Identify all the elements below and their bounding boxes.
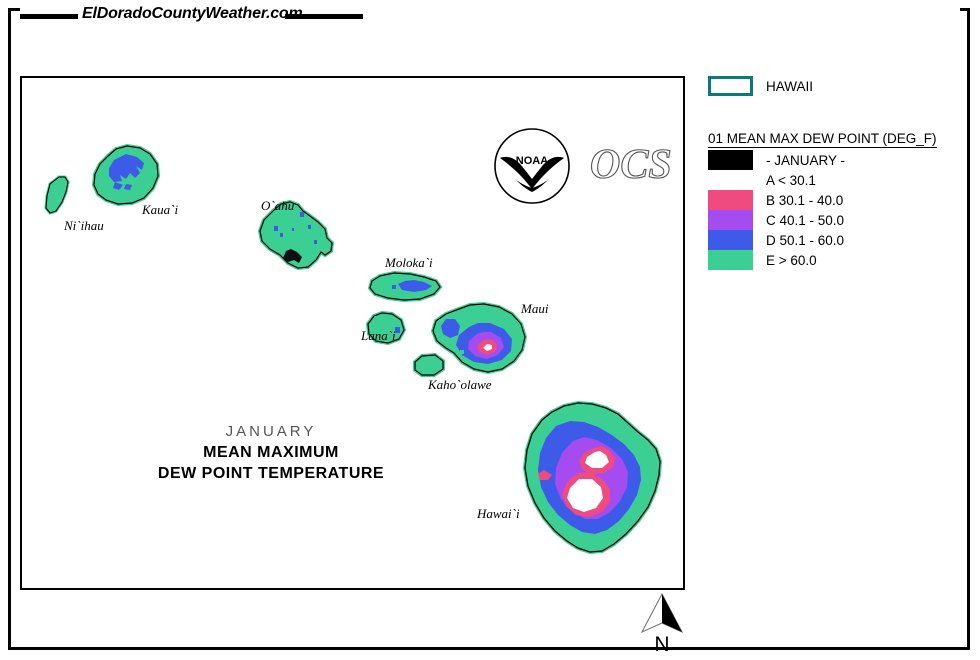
legend-label: B 30.1 - 40.0: [766, 193, 843, 208]
legend-row: E > 60.0: [708, 250, 958, 270]
legend-swatch: [708, 250, 753, 270]
island-niihau: [46, 177, 68, 213]
island-hawaii: [525, 403, 660, 552]
island-kauai: [94, 146, 158, 204]
map-title-block: JANUARY MEAN MAXIMUM DEW POINT TEMPERATU…: [126, 423, 416, 483]
legend-label: D 50.1 - 60.0: [766, 233, 844, 248]
legend-row: D 50.1 - 60.0: [708, 230, 958, 250]
island-molokai: [370, 273, 440, 300]
map-title-line2: DEW POINT TEMPERATURE: [126, 465, 416, 483]
island-label-kauai: Kaua`i: [142, 202, 178, 218]
legend-rows: - JANUARY -A < 30.1B 30.1 - 40.0C 40.1 -…: [708, 150, 958, 270]
legend-region-row: HAWAII: [708, 76, 958, 96]
island-maui: [433, 304, 525, 372]
north-arrow: N: [632, 592, 692, 657]
legend-label: A < 30.1: [766, 173, 816, 188]
legend: HAWAII 01 MEAN MAX DEW POINT (DEG_F) - J…: [708, 76, 958, 270]
noaa-logo-text: NOAA: [516, 155, 548, 167]
hawaii-region-swatch: [708, 76, 753, 96]
hawaii-region-label: HAWAII: [766, 79, 813, 94]
legend-row: A < 30.1: [708, 170, 958, 190]
legend-swatch: [708, 210, 753, 230]
legend-row: C 40.1 - 50.0: [708, 210, 958, 230]
ocs-logo: OCS: [588, 138, 685, 190]
island-label-oahu: O`ahu: [261, 198, 294, 214]
island-label-maui: Maui: [521, 301, 548, 317]
legend-row: - JANUARY -: [708, 150, 958, 170]
hawaii-islands-map: [22, 78, 683, 588]
noaa-logo: NOAA: [493, 127, 571, 205]
island-label-kahoolawe: Kaho`olawe: [428, 377, 492, 393]
legend-swatch: [708, 150, 753, 170]
island-label-lanai: Lana`i: [361, 328, 396, 344]
legend-label: C 40.1 - 50.0: [766, 213, 844, 228]
map-title-month: JANUARY: [126, 423, 416, 440]
ocs-logo-text: OCS: [590, 142, 672, 188]
site-title: ElDoradoCountyWeather.com: [82, 5, 303, 23]
legend-heading: 01 MEAN MAX DEW POINT (DEG_F): [708, 131, 937, 148]
legend-swatch: [708, 230, 753, 250]
north-arrow-icon: [637, 592, 687, 634]
legend-label: E > 60.0: [766, 253, 817, 268]
header-rule-left: [20, 14, 78, 19]
island-label-niihau: Ni`ihau: [64, 218, 104, 234]
map-title-line1: MEAN MAXIMUM: [126, 444, 416, 462]
legend-label: - JANUARY -: [766, 153, 845, 168]
legend-row: B 30.1 - 40.0: [708, 190, 958, 210]
island-label-molokai: Moloka`i: [385, 255, 433, 271]
legend-swatch: [708, 170, 753, 190]
north-arrow-letter: N: [632, 633, 692, 657]
map-panel: Ni`ihau Kaua`i O`ahu Moloka`i Lana`i Mau…: [20, 76, 685, 590]
legend-swatch: [708, 190, 753, 210]
island-label-hawaii: Hawai`i: [477, 506, 520, 522]
